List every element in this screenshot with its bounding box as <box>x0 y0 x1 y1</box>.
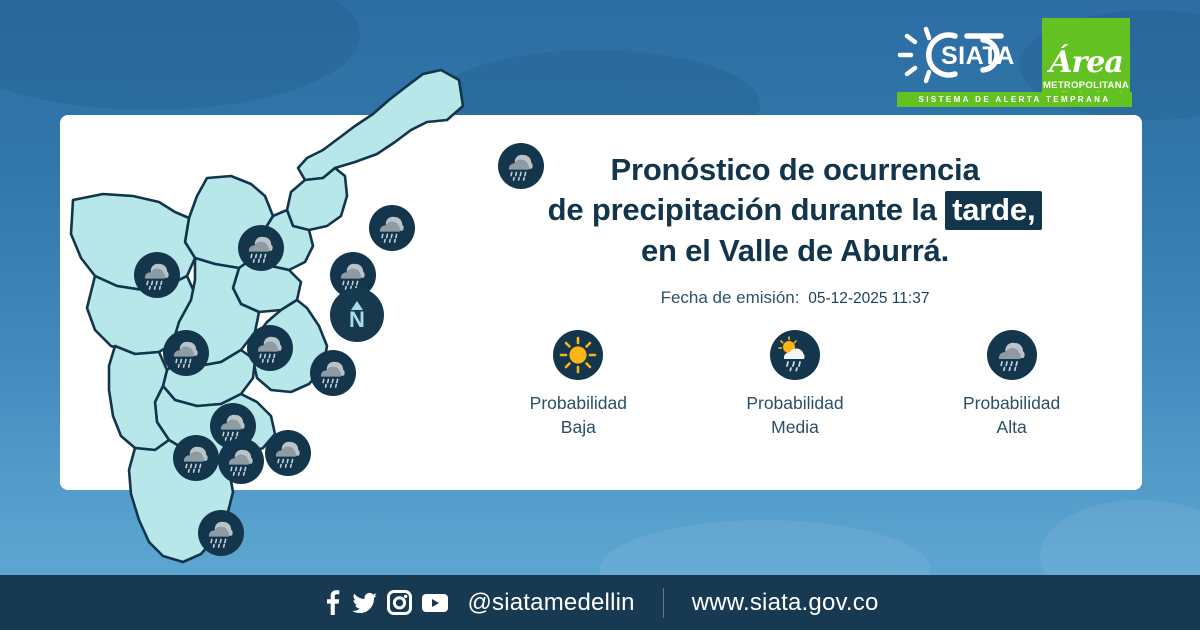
cloud-rain-icon <box>987 330 1037 380</box>
social-icons <box>321 590 449 616</box>
cloud-rain-icon <box>265 430 311 476</box>
legend-label-baja: Probabilidad Baja <box>530 392 627 439</box>
cloud-rain-icon <box>134 252 180 298</box>
headline-line-2-pre: de precipitación durante la <box>548 192 937 227</box>
compass-label: N <box>349 311 365 329</box>
map-polygons <box>55 50 475 570</box>
footer-bar: @siatamedellin www.siata.gov.co <box>0 575 1200 630</box>
tagline-banner: SISTEMA DE ALERTA TEMPRANA <box>897 92 1132 107</box>
headline-line-1: Pronóstico de ocurrencia <box>470 150 1120 190</box>
website-url[interactable]: www.siata.gov.co <box>692 589 879 617</box>
legend-label-alta-line2: Alta <box>963 416 1060 440</box>
headline-text: Pronóstico de ocurrencia de precipitació… <box>470 150 1120 271</box>
compass-north-icon: N <box>330 288 384 342</box>
headline-highlight-tarde: tarde, <box>945 191 1042 230</box>
cloud-rain-icon <box>163 330 209 376</box>
sun-cloud-rain-icon <box>770 330 820 380</box>
cloud-rain-icon <box>310 350 356 396</box>
cloud-rain-icon <box>218 438 264 484</box>
twitter-icon[interactable] <box>352 590 378 616</box>
facebook-icon[interactable] <box>321 590 343 616</box>
cloud-rain-icon <box>369 205 415 251</box>
area-logo-line1: METROPOLITANA <box>1043 81 1129 91</box>
legend-label-alta-line1: Probabilidad <box>963 392 1060 416</box>
legend-item-alta: Probabilidad Alta <box>912 330 1112 439</box>
social-handle[interactable]: @siatamedellin <box>467 589 634 617</box>
cloud-rain-icon <box>238 225 284 271</box>
legend-item-media: Probabilidad Media <box>695 330 895 439</box>
emission-date-label: Fecha de emisión: <box>661 288 800 307</box>
headline-line-2: de precipitación durante la tarde, <box>470 190 1120 230</box>
instagram-icon[interactable] <box>387 590 412 615</box>
probability-legend: Probabilidad Baja <box>470 330 1120 439</box>
headline-block: Pronóstico de ocurrencia de precipitació… <box>470 150 1120 308</box>
legend-label-media: Probabilidad Media <box>746 392 843 439</box>
map-valle-de-aburra <box>55 50 475 570</box>
area-logo-script: Área <box>1049 48 1123 78</box>
headline-line-3: en el Valle de Aburrá. <box>470 231 1120 271</box>
municipality-barbosa <box>298 70 463 180</box>
youtube-icon[interactable] <box>421 592 449 614</box>
svg-text:SIATA: SIATA <box>941 42 1015 70</box>
footer-divider <box>663 588 664 618</box>
emission-date-value: 05-12-2025 11:37 <box>808 290 929 307</box>
cloud-rain-icon <box>247 325 293 371</box>
legend-label-media-line2: Media <box>746 416 843 440</box>
infographic-root: SIATA Área METROPOLITANA Valle de Aburrá… <box>0 0 1200 630</box>
sun-icon <box>553 330 603 380</box>
legend-label-baja-line2: Baja <box>530 416 627 440</box>
legend-label-media-line1: Probabilidad <box>746 392 843 416</box>
legend-label-alta: Probabilidad Alta <box>963 392 1060 439</box>
legend-label-baja-line1: Probabilidad <box>530 392 627 416</box>
emission-date-row: Fecha de emisión: 05-12-2025 11:37 <box>470 288 1120 308</box>
siata-logo: SIATA <box>897 22 1037 92</box>
cloud-rain-icon <box>173 435 219 481</box>
legend-item-baja: Probabilidad Baja <box>478 330 678 439</box>
cloud-rain-icon <box>198 510 244 556</box>
